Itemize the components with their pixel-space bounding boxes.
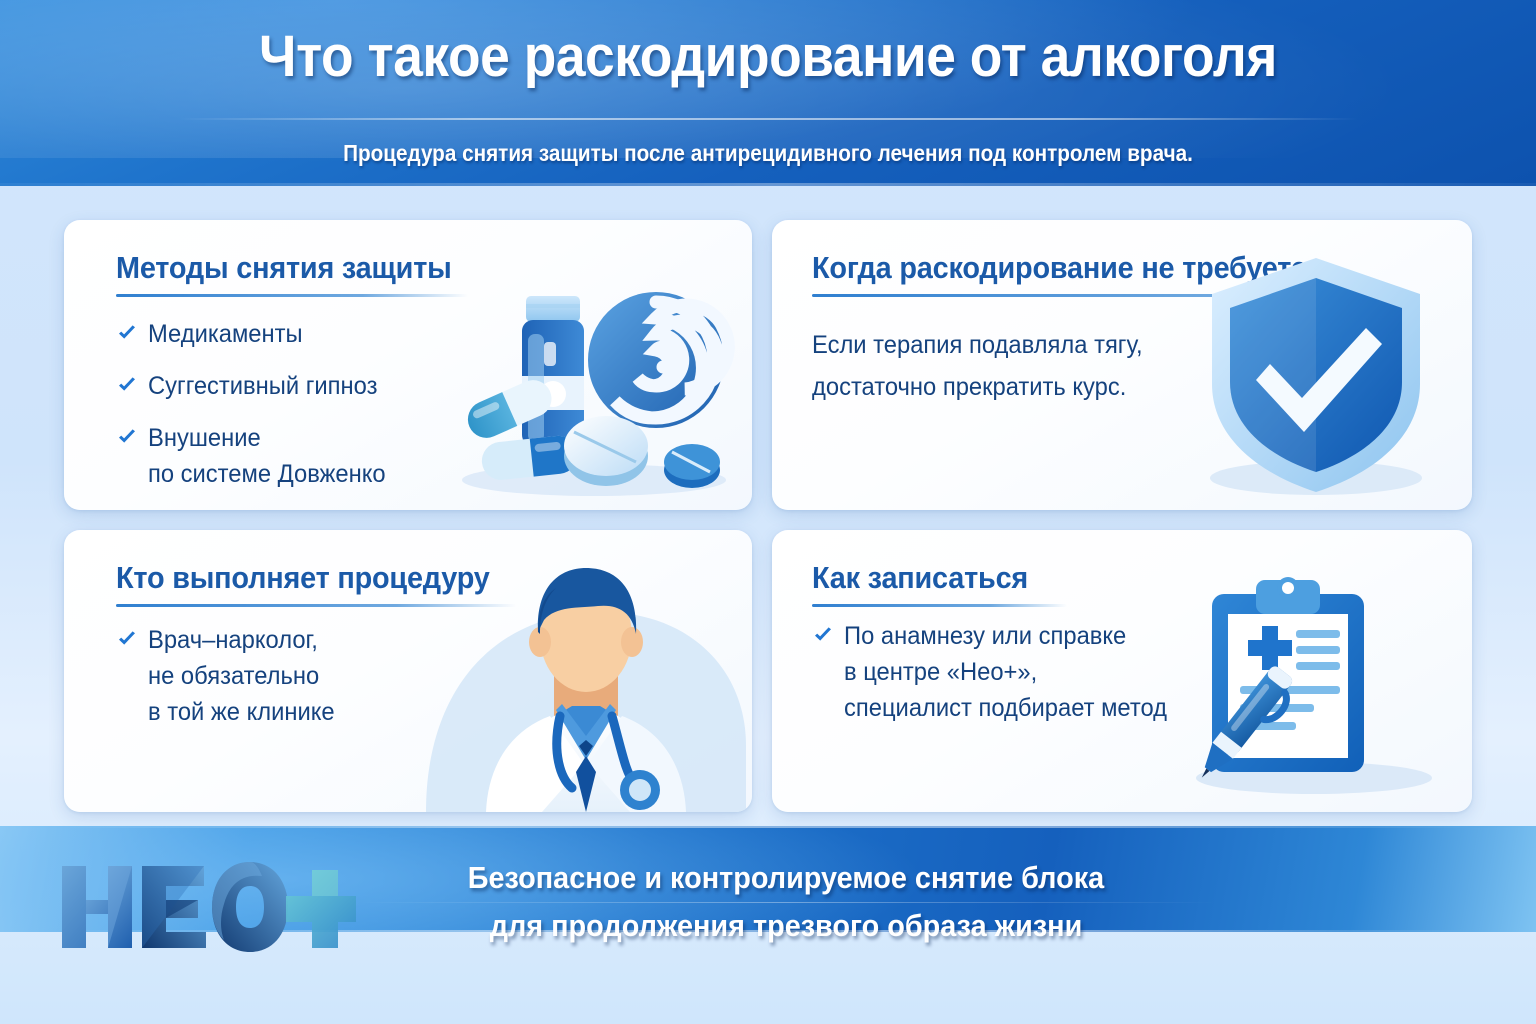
doctor-illustration: [426, 550, 746, 812]
card-how-to-book-bullet-list: По анамнезу или справке в центре «Нео+»,…: [812, 618, 1232, 726]
check-icon: [116, 426, 138, 448]
list-item: Суггестивный гипноз: [116, 368, 496, 404]
title-divider: [178, 118, 1358, 120]
list-item-label: Врач–нарколог, не обязательно в той же к…: [148, 622, 335, 730]
card-how-to-book-heading: Как записаться: [812, 560, 1028, 596]
infographic-poster: Что такое раскодирование от алкоголя Про…: [0, 0, 1536, 1024]
card-methods-heading-rule: [116, 294, 468, 297]
card-methods: Методы снятия защиты Медикаменты Суггест…: [64, 220, 752, 510]
card-methods-bullet-list: Медикаменты Суггестивный гипноз Внушение…: [116, 316, 496, 508]
list-item-label: Внушение по системе Довженко: [148, 420, 386, 492]
card-when-not-needed-body: Если терапия подавляла тягу, достаточно …: [812, 324, 1143, 408]
list-item-label: По анамнезу или справке в центре «Нео+»,…: [844, 618, 1167, 726]
card-how-to-book: Как записаться По анамнезу или справке в…: [772, 530, 1472, 812]
check-icon: [116, 322, 138, 344]
check-icon: [116, 374, 138, 396]
shield-check-illustration: [1196, 252, 1436, 500]
list-item-label: Медикаменты: [148, 316, 303, 352]
list-item: Медикаменты: [116, 316, 496, 352]
list-item: Внушение по системе Довженко: [116, 420, 496, 492]
card-how-to-book-heading-rule: [812, 604, 1067, 607]
footer-tagline-divider: [356, 902, 1216, 903]
list-item-label: Суггестивный гипноз: [148, 368, 377, 404]
logo-neo-plus[interactable]: [56, 852, 356, 962]
card-when-not-needed: Когда раскодирование не требуется Если т…: [772, 220, 1472, 510]
list-item: По анамнезу или справке в центре «Нео+»,…: [812, 618, 1232, 726]
check-icon: [116, 628, 138, 650]
clipboard-and-pen-illustration: [1178, 572, 1438, 798]
check-icon: [812, 624, 834, 646]
card-methods-heading: Методы снятия защиты: [116, 250, 452, 286]
card-who-performs: Кто выполняет процедуру Врач–нарколог, н…: [64, 530, 752, 812]
pills-and-spiral-illustration: [444, 268, 744, 504]
page-title: Что такое раскодирование от алкоголя: [61, 28, 1474, 86]
page-subtitle: Процедура снятия защиты после антирециди…: [77, 140, 1459, 167]
